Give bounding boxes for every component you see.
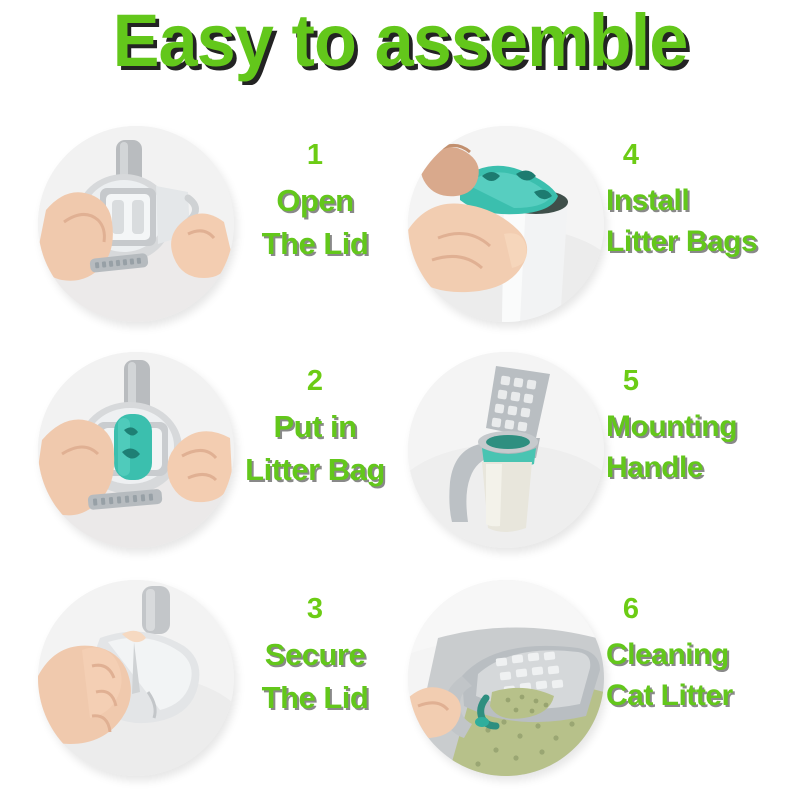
step-label-line2: The Lid [230, 223, 400, 266]
step-label: Put in Litter Bag [230, 406, 400, 492]
step-caption: 2 Put in Litter Bag [230, 358, 400, 492]
photo-mounting-handle [408, 352, 604, 548]
step-card: 5 Mounting Handle [398, 352, 798, 582]
step-label: Mounting Handle [606, 406, 798, 489]
step-caption: 5 Mounting Handle [606, 358, 798, 489]
step-card: 2 Put in Litter Bag [0, 352, 400, 582]
step-number-badge: 1 [292, 132, 338, 178]
step-label: Cleaning Cat Litter [606, 634, 798, 717]
step-card: 3 Secure The Lid [0, 580, 400, 800]
step-card: 1 Open The Lid [0, 126, 400, 356]
photo-install-litter-bags [408, 126, 604, 322]
photo-put-in-litter-bag [38, 352, 234, 548]
step-caption: 3 Secure The Lid [230, 586, 400, 720]
step-number-badge: 6 [608, 586, 654, 632]
step-label-line1: Secure [265, 637, 365, 672]
step-label-line2: The Lid [230, 677, 400, 720]
step-caption: 6 Cleaning Cat Litter [606, 586, 798, 717]
step-label-line2: Cat Litter [606, 675, 798, 716]
step-label-line2: Litter Bag [230, 449, 400, 492]
step-number-badge: 4 [608, 132, 654, 178]
step-label-line1: Cleaning [606, 638, 729, 671]
step-number-badge: 5 [608, 358, 654, 404]
photo-cleaning-cat-litter [408, 580, 604, 776]
steps-grid: 1 Open The Lid [0, 0, 800, 800]
step-label: Secure The Lid [230, 634, 400, 720]
step-label-line1: Put in [273, 409, 356, 444]
photo-secure-the-lid [38, 580, 234, 776]
step-label-line1: Mounting [606, 410, 737, 443]
step-label: Open The Lid [230, 180, 400, 266]
step-card: 4 Install Litter Bags [398, 126, 798, 356]
step-label-line2: Handle [606, 447, 798, 488]
step-label: Install Litter Bags [606, 180, 798, 263]
step-caption: 4 Install Litter Bags [606, 132, 798, 263]
step-label-line1: Install [606, 184, 689, 217]
infographic-page: Easy to assemble [0, 0, 800, 800]
photo-open-the-lid [38, 126, 234, 322]
step-label-line1: Open [276, 183, 353, 218]
step-number-badge: 3 [292, 586, 338, 632]
step-caption: 1 Open The Lid [230, 132, 400, 266]
step-label-line2: Litter Bags [606, 221, 798, 262]
step-number-badge: 2 [292, 358, 338, 404]
step-card: 6 Cleaning Cat Litter [398, 580, 798, 800]
